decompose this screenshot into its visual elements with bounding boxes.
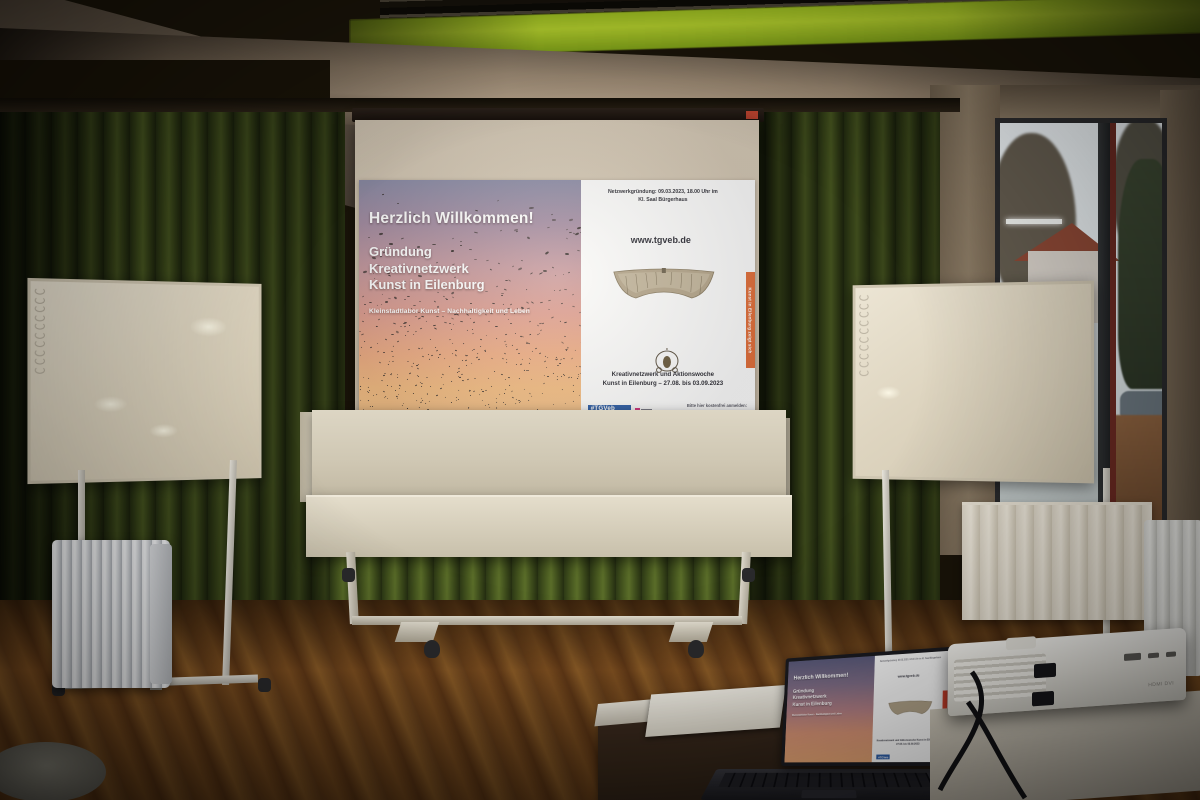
slide-contact-line1: Bitte hier kostenfrei anmelden: — [687, 403, 747, 410]
slide-bird — [360, 400, 361, 401]
slide-bird — [539, 352, 541, 353]
slide-bird — [442, 316, 444, 317]
slide-bird — [438, 357, 439, 358]
slide-bird — [419, 407, 420, 408]
slide-bird — [465, 360, 467, 361]
slide-bird — [512, 397, 514, 398]
projector-top-marking — [1006, 636, 1036, 650]
slide-bird — [564, 375, 565, 376]
slide-bird — [420, 385, 421, 386]
board-clip — [859, 294, 868, 301]
paraglider-wing-icon — [612, 268, 716, 306]
slide-bird — [376, 394, 377, 395]
slide-heading-line2: Kreativnetzwerk — [369, 261, 575, 278]
board-left-sheen-1 — [189, 317, 227, 337]
slide-bird — [458, 390, 459, 391]
slide-bird — [512, 345, 513, 346]
slide-bird — [491, 386, 492, 387]
slide-bird — [436, 350, 439, 352]
slide-bird — [529, 321, 532, 323]
hdmi-port[interactable] — [1148, 653, 1159, 659]
slide-bird — [560, 320, 561, 321]
slide-bird — [411, 366, 413, 367]
slide-bird — [368, 378, 369, 379]
portable-oil-radiator — [52, 540, 170, 688]
slide-bird — [396, 395, 398, 396]
slide-bird — [396, 331, 399, 334]
slide-bird — [405, 335, 406, 336]
slide-bird — [383, 391, 385, 392]
slide-bird — [442, 374, 444, 375]
slide-bird — [535, 347, 537, 348]
slide-bird — [455, 350, 457, 351]
slide-bird — [497, 199, 500, 201]
laptop-slide: Herzlich Willkommen! Gründung Kreativnet… — [784, 651, 950, 763]
slide-bird — [577, 377, 578, 378]
laptop-keyboard[interactable] — [718, 773, 934, 787]
board-clip — [35, 331, 45, 338]
slide-left-panel: Herzlich Willkommen! Gründung Kreativnet… — [359, 180, 581, 422]
slide-bird — [466, 365, 467, 366]
slide-bird — [571, 377, 572, 378]
board-clip — [859, 344, 868, 351]
slide-bird — [415, 400, 416, 401]
slide-heading-line1: Gründung — [369, 244, 575, 261]
slide-bird — [551, 317, 554, 319]
slide-bird — [392, 361, 394, 362]
slide-bird — [504, 379, 505, 380]
slide-bird — [575, 233, 579, 236]
board-right-sheen — [876, 386, 901, 400]
slide-bird — [505, 404, 506, 405]
slide-bird — [561, 389, 562, 390]
slide-bird — [397, 340, 399, 342]
laptop-heading-3: Kunst in Eilenburg — [792, 700, 847, 709]
slide-bird — [488, 320, 490, 321]
slide-bird — [451, 317, 454, 319]
board-clip — [859, 302, 868, 309]
slide-bird — [485, 389, 487, 390]
slide-bird — [396, 377, 397, 378]
slide-bird — [495, 402, 496, 403]
slide-bird — [416, 364, 418, 365]
slide-bird — [458, 371, 460, 372]
slide-bird — [429, 359, 431, 360]
slide-bird — [519, 402, 520, 403]
slide-heading-line3: Kunst in Eilenburg — [369, 277, 575, 294]
laptop-slide-left: Herzlich Willkommen! Gründung Kreativnet… — [784, 656, 875, 763]
board-clip — [35, 314, 45, 321]
slide-bird — [518, 353, 520, 354]
board-right-clips — [859, 294, 868, 377]
slide-bird — [427, 394, 428, 395]
slide-bird — [422, 356, 424, 357]
slide-bird — [564, 322, 567, 324]
slide-event-line1: Kreativnetzwerk und Aktionswoche — [587, 370, 739, 379]
cart-front-tray — [306, 495, 792, 557]
slide-bird — [383, 375, 385, 376]
slide-bird — [409, 325, 410, 326]
slide-bird — [444, 357, 446, 358]
slide-bird — [502, 401, 504, 402]
slide-bird — [362, 320, 364, 322]
slide-bird — [407, 330, 409, 331]
slide-bird — [440, 387, 442, 388]
slide-bird — [544, 375, 545, 376]
slide-bird — [399, 387, 400, 388]
projected-slide: Herzlich Willkommen! Gründung Kreativnet… — [359, 180, 755, 422]
slide-bird — [488, 378, 490, 379]
slide-bird — [528, 400, 529, 401]
cart-foot-left — [395, 622, 439, 642]
slide-bird — [476, 353, 477, 354]
slide-bird — [564, 336, 566, 338]
slide-bird — [430, 338, 431, 339]
slide-bird — [463, 343, 464, 344]
slide-bird — [485, 351, 486, 352]
slide-bird — [502, 357, 504, 358]
slide-bird — [542, 392, 543, 393]
slide-bird — [373, 395, 374, 396]
laptop-slide-text: Herzlich Willkommen! Gründung Kreativnet… — [792, 672, 849, 717]
slide-bird — [402, 405, 403, 406]
slide-bird — [561, 376, 562, 377]
slide-bird — [459, 320, 462, 322]
slide-bird — [456, 397, 457, 398]
board-clip — [859, 310, 868, 317]
board-clip — [859, 360, 868, 367]
slide-bird — [529, 393, 531, 394]
slide-bird — [470, 363, 471, 364]
slide-bird — [495, 326, 498, 327]
slide-bird — [418, 364, 419, 365]
slide-bird — [451, 402, 452, 403]
slide-bird — [383, 351, 385, 352]
slide-bird — [479, 394, 480, 395]
slide-bird — [364, 313, 365, 314]
slide-bird — [531, 379, 532, 380]
board-left-sheen-2 — [94, 396, 128, 412]
slide-bird — [378, 319, 380, 321]
slide-bird — [546, 376, 548, 377]
slide-bird — [436, 394, 438, 395]
slide-bird — [530, 359, 531, 360]
board-clip — [35, 366, 45, 373]
slide-bird — [495, 408, 496, 409]
slide-bird — [457, 367, 459, 369]
slide-bird — [361, 347, 362, 348]
slide-bird — [529, 207, 534, 209]
slide-bird — [428, 354, 429, 355]
slide-bird — [384, 373, 386, 374]
slide-bird — [387, 385, 388, 386]
slide-bird — [557, 376, 558, 377]
cart-board-panel — [312, 410, 786, 504]
slide-founding-line2: Kl. Saal Bürgerhaus — [591, 197, 735, 205]
slide-event-info: Kreativnetzwerk und Aktionswoche Kunst i… — [587, 370, 739, 388]
slide-bird — [360, 386, 361, 387]
slide-bird — [499, 393, 500, 394]
board-clip — [859, 369, 868, 376]
slide-bird — [524, 370, 526, 371]
slide-bird — [420, 402, 422, 403]
slide-bird — [381, 380, 383, 381]
slide-bird — [578, 376, 579, 377]
slide-bird — [444, 322, 447, 324]
slide-bird — [460, 377, 461, 378]
slide-bird — [576, 366, 577, 367]
board-clip — [859, 335, 868, 342]
slide-bird — [472, 321, 474, 322]
slide-bird — [540, 330, 542, 332]
slide-bird — [470, 395, 471, 396]
slide-bird — [511, 390, 513, 391]
slide-bird — [506, 346, 508, 347]
slide-right-panel: Netzwerkgründung: 09.03.2023, 18.00 Uhr … — [581, 180, 755, 422]
slide-bird — [506, 362, 507, 363]
slide-bird — [537, 325, 539, 327]
cart-caster-left — [342, 568, 355, 582]
slide-bird — [363, 376, 364, 377]
projector-port-label: HDMI DVI — [1148, 681, 1174, 689]
slide-bird — [496, 337, 498, 338]
projector-port-row[interactable] — [1124, 650, 1176, 661]
slide-bird — [516, 349, 518, 351]
slide-bird — [398, 393, 399, 394]
slide-bird — [391, 386, 392, 387]
slide-bird — [377, 350, 379, 352]
slide-bird — [435, 347, 436, 348]
slide-bird — [421, 383, 423, 384]
slide-bird — [362, 295, 364, 297]
board-clip — [35, 305, 45, 312]
slide-bird — [420, 327, 422, 328]
laptop-base[interactable] — [700, 769, 952, 800]
slide-bird — [468, 408, 469, 409]
laptop-screen[interactable]: Herzlich Willkommen! Gründung Kreativnet… — [781, 647, 954, 766]
projector-cables — [930, 650, 1130, 800]
slide-bird — [430, 385, 431, 386]
slide-bird — [504, 393, 505, 394]
slide-bird — [413, 392, 414, 393]
slide-bird — [391, 373, 392, 374]
board-left-panel — [27, 278, 261, 484]
slide-bird — [415, 331, 418, 333]
slide-bird — [397, 202, 399, 203]
slide-bird — [392, 356, 394, 357]
slide-bird — [472, 332, 474, 334]
slide-bird — [451, 329, 452, 330]
slide-bird — [359, 331, 362, 333]
slide-event-line2: Kunst in Eilenburg – 27.08. bis 03.09.20… — [587, 379, 739, 388]
slide-bird — [561, 342, 564, 345]
slide-bird — [391, 350, 394, 352]
slide-bird — [568, 376, 570, 378]
slide-bird — [400, 326, 402, 327]
slide-bird — [519, 363, 521, 364]
slide-bird — [541, 323, 543, 324]
slide-bird — [543, 383, 545, 384]
slide-bird — [395, 390, 396, 391]
slide-bird — [425, 402, 426, 403]
slide-bird — [418, 317, 421, 320]
slide-bird — [501, 374, 503, 375]
slide-bird — [457, 372, 458, 373]
window-red-frame — [1110, 123, 1116, 543]
board-clip — [859, 319, 868, 326]
slide-bird — [368, 392, 369, 393]
slide-bird — [363, 271, 367, 274]
slide-bird — [382, 194, 384, 195]
slide-founding-line1: Netzwerkgründung: 09.03.2023, 18.00 Uhr … — [591, 189, 735, 197]
slide-bird — [480, 339, 482, 341]
slide-bird — [445, 397, 447, 398]
slide-bird — [360, 389, 361, 390]
slide-bird — [405, 391, 406, 392]
slide-bird — [429, 401, 430, 402]
slide-bird — [371, 406, 372, 407]
board-clip — [35, 322, 45, 329]
slide-bird — [377, 343, 378, 344]
slide-bird — [397, 373, 399, 374]
slide-bird — [557, 379, 558, 380]
slide-bird — [571, 357, 573, 359]
slide-bird — [519, 378, 520, 379]
usb-port[interactable] — [1166, 651, 1176, 657]
slide-bird — [576, 249, 579, 251]
slide-website-url: www.tgveb.de — [581, 235, 741, 245]
slide-bird — [544, 360, 546, 362]
slide-bird — [524, 388, 525, 389]
slide-bird — [389, 361, 391, 362]
screen-housing-badge — [746, 111, 758, 119]
slide-bird — [462, 380, 464, 381]
slide-bird — [528, 343, 530, 345]
slide-bird — [379, 361, 381, 363]
slide-bird — [368, 400, 369, 401]
oil-radiator-control-panel — [150, 544, 172, 684]
slide-bird — [385, 338, 387, 340]
slide-bird — [407, 361, 409, 362]
cart-foot-right — [669, 622, 713, 642]
slide-bird — [408, 349, 410, 350]
slide-bird — [504, 352, 506, 354]
slide-bird — [426, 377, 428, 378]
slide-bird — [370, 346, 372, 347]
slide-bird — [557, 365, 559, 366]
slide-bird — [482, 400, 483, 401]
slide-bird — [443, 384, 444, 385]
slide-bird — [536, 334, 538, 335]
slide-bird — [388, 364, 389, 365]
laptop-trackpad[interactable] — [801, 790, 857, 798]
slide-bird — [416, 368, 418, 370]
slide-bird — [470, 317, 472, 318]
slide-bird — [387, 398, 388, 399]
slide-bird — [572, 391, 573, 392]
slide-heading-block: Gründung Kreativnetzwerk Kunst in Eilenb… — [369, 244, 575, 294]
slide-bird — [451, 353, 452, 354]
slide-bird — [415, 385, 417, 386]
slide-bird — [402, 403, 403, 404]
laptop-tgveb-logo: #TGVeb — [876, 754, 890, 759]
slide-bird — [566, 349, 568, 350]
slide-bird — [553, 404, 554, 405]
slide-bird — [455, 355, 457, 356]
slide-bird — [418, 376, 419, 377]
slide-bird — [565, 403, 566, 404]
slide-bird — [546, 367, 547, 368]
slide-bird — [421, 398, 422, 399]
slide-bird — [573, 400, 574, 401]
board-clip — [35, 340, 45, 347]
slide-bird — [389, 374, 391, 375]
slide-bird — [439, 354, 441, 356]
board-left-sheen-3 — [149, 424, 178, 438]
slide-founding-info: Netzwerkgründung: 09.03.2023, 18.00 Uhr … — [591, 189, 735, 205]
slide-bird — [462, 360, 463, 361]
board-clip — [35, 296, 45, 303]
slide-bird — [404, 325, 406, 326]
slide-bird — [436, 316, 439, 317]
slide-bird — [485, 405, 486, 406]
slide-bird — [578, 373, 579, 374]
slide-bird — [393, 322, 396, 324]
slide-bird — [516, 364, 517, 365]
slide-bird — [508, 319, 509, 320]
slide-bird — [471, 329, 473, 330]
board-left-caster-2 — [258, 678, 271, 692]
slide-side-strip-text: Kunst in Eilenburg zeigt sich — [748, 287, 753, 353]
slide-bird — [432, 324, 435, 326]
slide-left-text-block: Herzlich Willkommen! Gründung Kreativnet… — [369, 210, 575, 315]
slide-bird — [480, 346, 481, 347]
slide-bird — [573, 385, 574, 386]
slide-bird — [488, 404, 489, 405]
slide-bird — [407, 379, 409, 380]
office-chair-seat — [0, 742, 106, 800]
slide-bird — [539, 332, 540, 333]
slide-bird — [361, 333, 364, 335]
slide-bird — [473, 391, 475, 392]
cart-caster-front-left — [424, 640, 440, 658]
slide-bird — [393, 345, 395, 346]
slide-bird — [508, 377, 510, 378]
slide-bird — [509, 385, 510, 386]
slide-bird — [488, 407, 489, 408]
laptop-subline: Kleinstadtlabor Kunst – Nachhaltigkeit u… — [792, 712, 847, 717]
slide-bird — [369, 389, 370, 390]
cart-caster-right — [742, 568, 755, 582]
slide-bird — [473, 349, 475, 350]
board-clip — [35, 287, 45, 294]
slide-bird — [431, 355, 433, 356]
slide-bird — [449, 339, 451, 340]
slide-bird — [559, 363, 561, 364]
room-scene: Herzlich Willkommen! Gründung Kreativnet… — [0, 0, 1200, 800]
slide-bird — [413, 334, 414, 335]
slide-bird — [547, 357, 548, 358]
window-parked-car — [1120, 391, 1167, 417]
wall-radiator-main — [962, 502, 1152, 620]
slide-bird — [505, 388, 506, 389]
slide-bird — [515, 333, 516, 334]
slide-bird — [453, 323, 454, 324]
window-reflection-light — [1006, 219, 1062, 224]
slide-bird — [482, 391, 484, 392]
slide-bird — [449, 322, 451, 323]
slide-bird — [566, 350, 567, 351]
